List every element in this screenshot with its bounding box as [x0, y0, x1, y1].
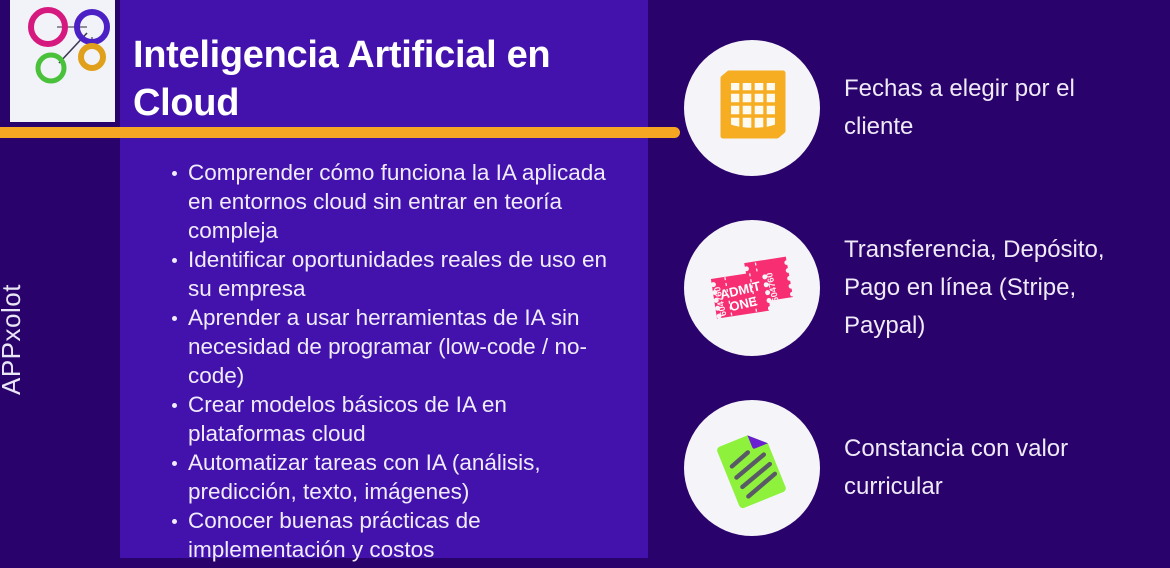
feature-label: Transferencia, Depósito, Pago en línea (…: [844, 231, 1144, 345]
slide-canvas: Inteligencia Artificial en Cloud APPxolo…: [0, 0, 1170, 568]
features-column: Fechas a elegir por el cliente: [684, 40, 1154, 536]
certificate-document-icon: [710, 426, 794, 510]
list-item: Identificar oportunidades reales de uso …: [170, 245, 625, 303]
accent-divider: [0, 127, 680, 138]
list-item: Automatizar tareas con IA (análisis, pre…: [170, 448, 625, 506]
calendar-icon: [713, 69, 791, 147]
feature-icon-badge: 604760: [684, 220, 820, 356]
list-item: Crear modelos básicos de IA en plataform…: [170, 390, 625, 448]
list-item: Conocer buenas prácticas de implementaci…: [170, 506, 625, 564]
brand-logo-tile: [10, 0, 115, 122]
feature-icon-badge: [684, 40, 820, 176]
feature-certificate: Constancia con valor curricular: [684, 400, 1154, 536]
list-item: Comprender cómo funciona la IA aplicada …: [170, 158, 625, 245]
objectives-list: Comprender cómo funciona la IA aplicada …: [170, 158, 625, 564]
feature-dates: Fechas a elegir por el cliente: [684, 40, 1154, 176]
feature-label: Fechas a elegir por el cliente: [844, 70, 1144, 146]
feature-icon-badge: [684, 400, 820, 536]
network-nodes-logo-icon: [10, 0, 115, 122]
page-title: Inteligencia Artificial en Cloud: [133, 31, 603, 127]
ticket-icon: 604760: [706, 248, 798, 328]
brand-name-vertical: APPxolot: [0, 235, 27, 395]
feature-label: Constancia con valor curricular: [844, 430, 1144, 506]
list-item: Aprender a usar herramientas de IA sin n…: [170, 303, 625, 390]
feature-payments: 604760: [684, 220, 1154, 356]
